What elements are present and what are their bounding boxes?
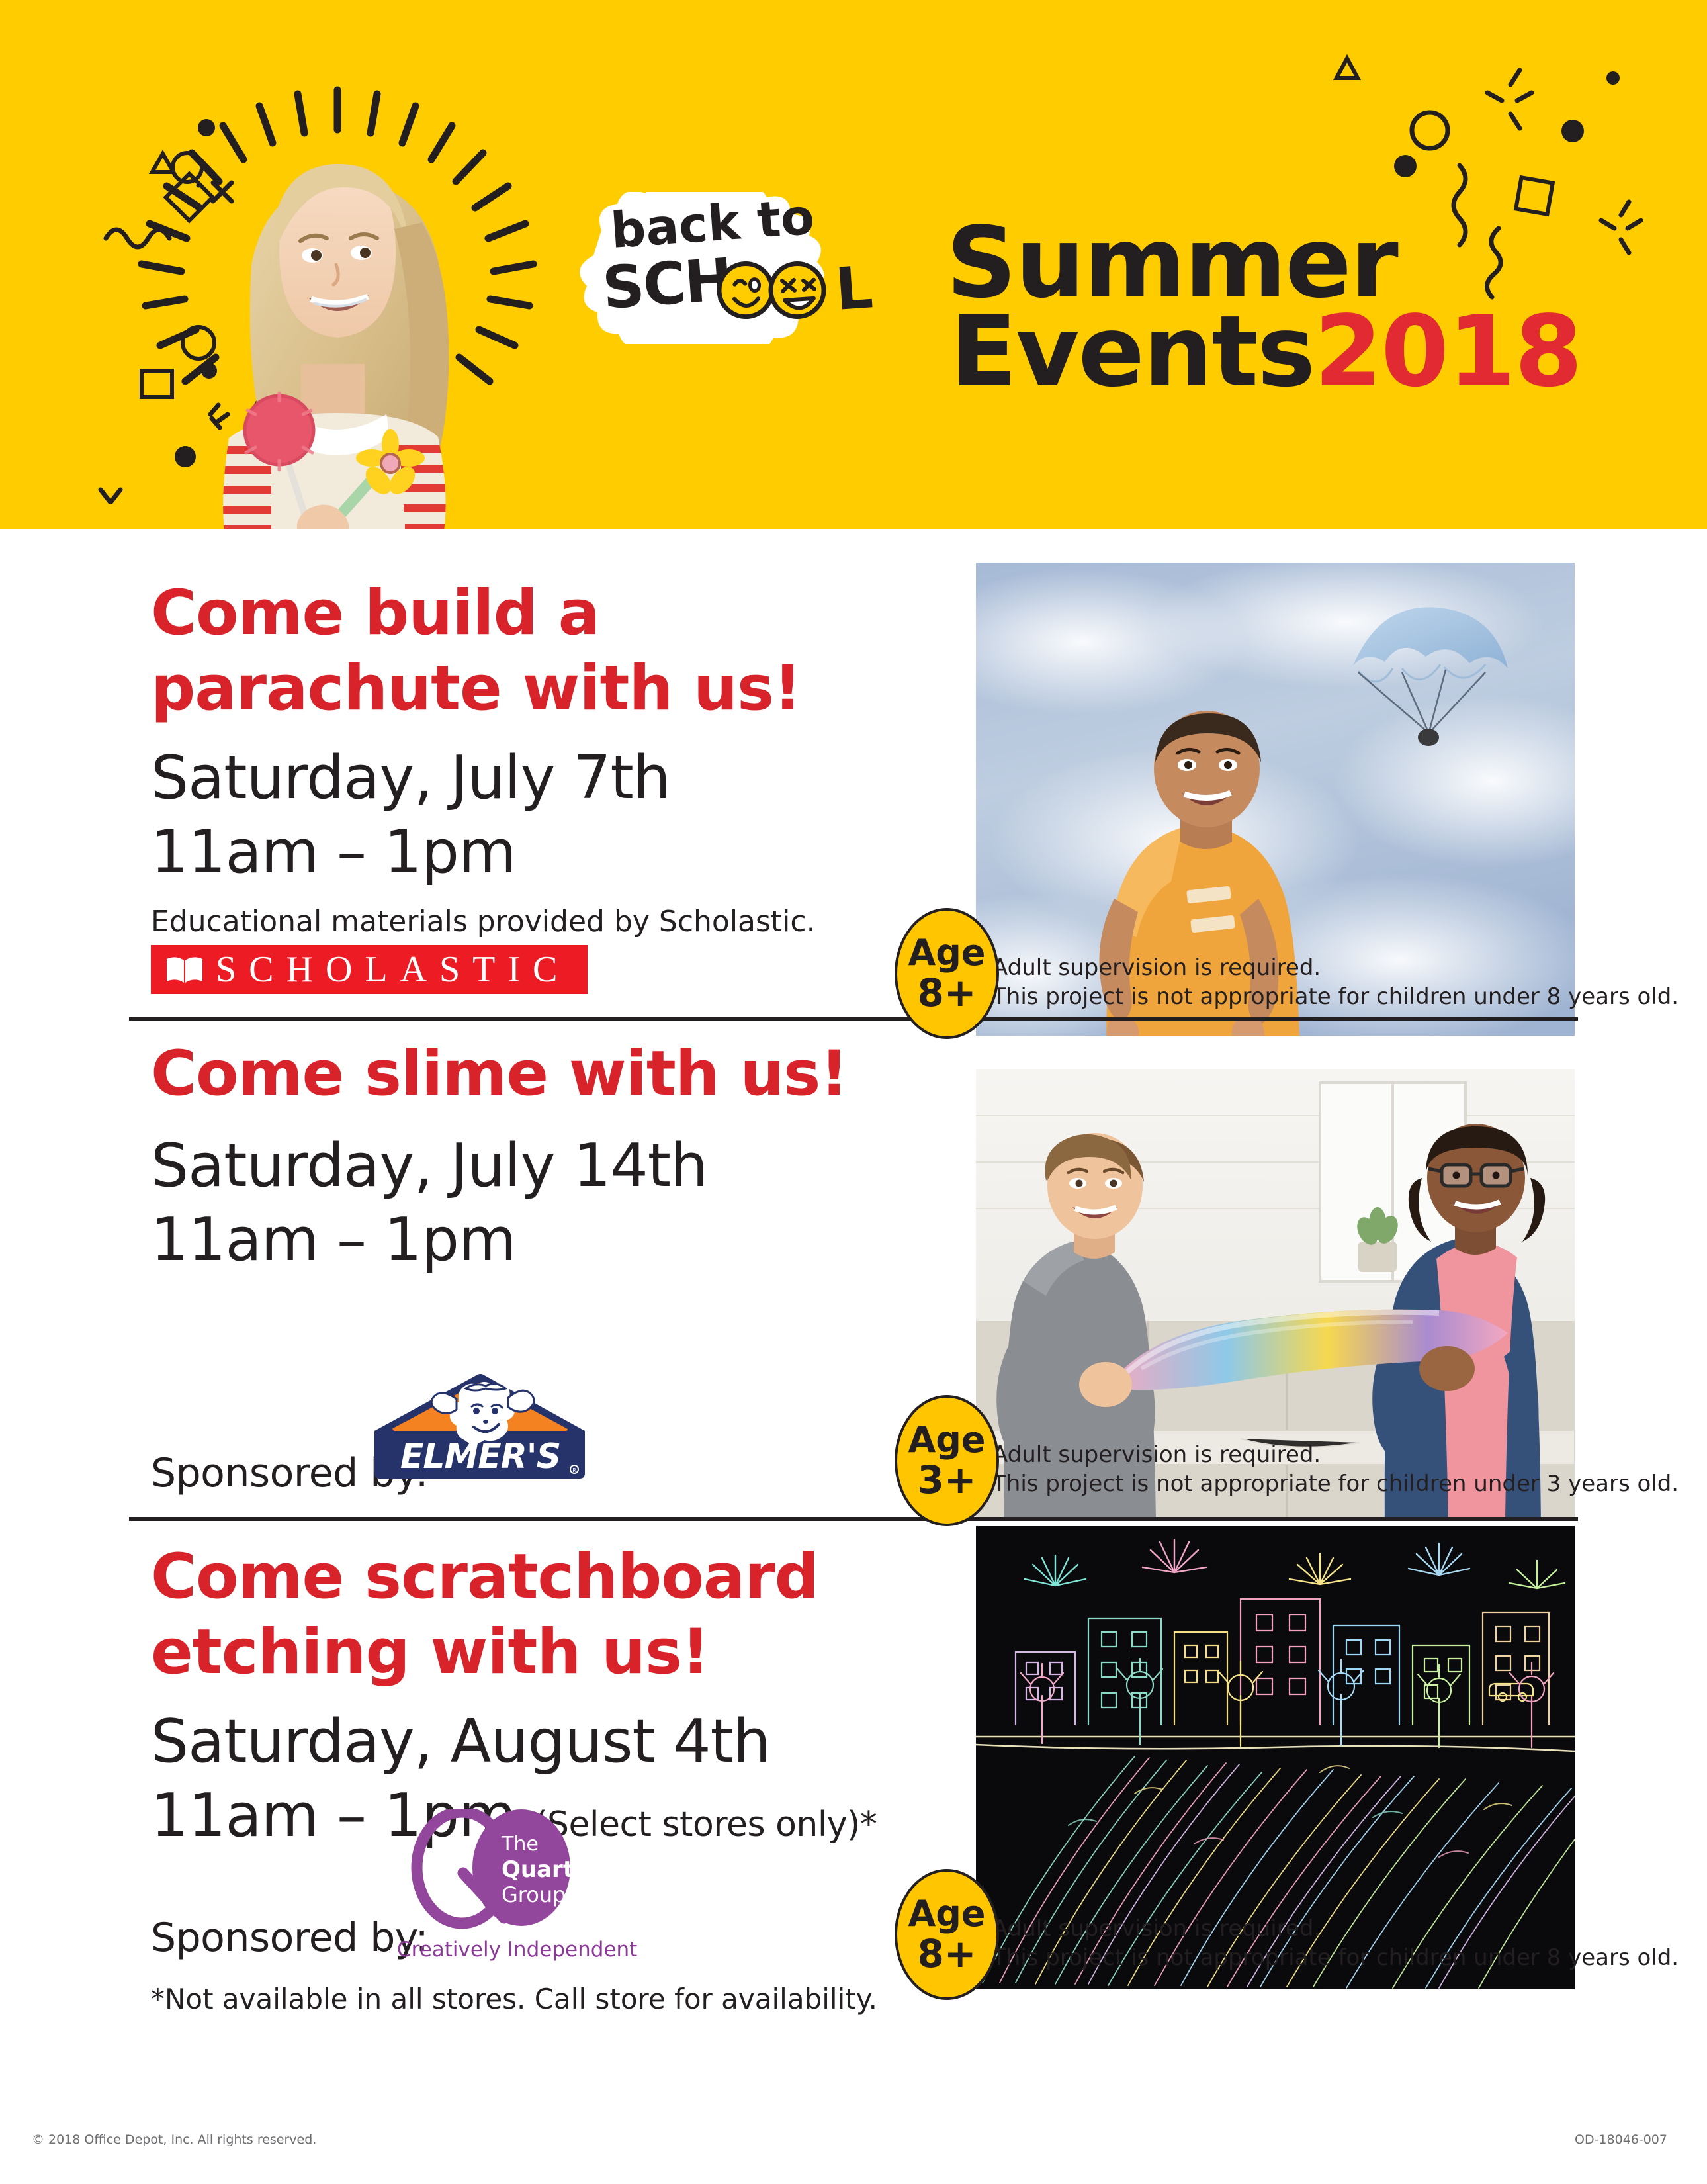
event-1-time: 11am – 1pm	[151, 815, 912, 889]
event-2-disclaimer-line1: Adult supervision is required.	[992, 1440, 1679, 1469]
svg-text:L: L	[833, 253, 873, 324]
event-1-disclaimer-line1: Adult supervision is required.	[992, 953, 1679, 982]
event-3-disclaimer: Adult supervision is required. This proj…	[992, 1914, 1679, 1972]
title-line-events: Events2018	[946, 307, 1687, 396]
event-3-disclaimer-line2: This project is not appropriate for chil…	[992, 1943, 1679, 1972]
age-value: 8+	[918, 1933, 977, 1974]
section-divider-1	[129, 1017, 1578, 1021]
elmers-wordmark: ELMER'S	[400, 1437, 560, 1477]
event-1-age-badge: Age 8+	[895, 908, 999, 1039]
event-2-title-line1: Come slime with us!	[151, 1036, 912, 1112]
event-1-title-line2: parachute with us!	[151, 651, 912, 727]
age-label: Age	[908, 1895, 985, 1933]
age-label: Age	[908, 1421, 985, 1459]
event-3-date: Saturday, August 4th	[151, 1705, 932, 1779]
event-3-title-line2: etching with us!	[151, 1615, 932, 1690]
title-events-word: Events	[950, 295, 1314, 408]
event-2-date: Saturday, July 14th	[151, 1129, 912, 1203]
quarto-group: Group	[502, 1882, 566, 1907]
event-2-disclaimer: Adult supervision is required. This proj…	[992, 1440, 1679, 1498]
quarto-tagline: Creatively Independent	[397, 1938, 637, 1962]
section-divider-2	[129, 1517, 1578, 1521]
age-value: 3+	[918, 1459, 977, 1500]
sunburst-rays-icon	[79, 66, 595, 529]
scholastic-logo: SCHOLASTIC	[151, 945, 588, 994]
event-2-time: 11am – 1pm	[151, 1203, 912, 1277]
quarto-group-logo: The Quarto Group	[390, 1809, 609, 1942]
poster-page: back to SCH L Summer Events2018	[0, 0, 1707, 2184]
copyright-text: © 2018 Office Depot, Inc. All rights res…	[32, 2132, 316, 2147]
event-3-availability-note: *Not available in all stores. Call store…	[151, 1983, 877, 2016]
title-line-summer: Summer	[946, 218, 1687, 307]
quarto-quarto: Quarto	[502, 1856, 589, 1883]
event-3-age-badge: Age 8+	[895, 1869, 999, 2000]
poster-title: Summer Events2018	[946, 218, 1687, 396]
svg-text:SCH: SCH	[600, 246, 734, 322]
svg-text:R: R	[572, 1467, 576, 1473]
event-3-disclaimer-line1: Adult supervision is required.	[992, 1914, 1679, 1943]
open-book-icon	[165, 955, 204, 984]
scholastic-wordmark: SCHOLASTIC	[216, 948, 570, 991]
age-value: 8+	[918, 972, 977, 1013]
poster-header: back to SCH L Summer Events2018	[0, 0, 1707, 529]
event-1-disclaimer-line2: This project is not appropriate for chil…	[992, 982, 1679, 1011]
event-3-title-line1: Come scratchboard	[151, 1539, 932, 1615]
document-code: OD-18046-007	[1575, 2132, 1667, 2147]
event-1-note: Educational materials provided by Schola…	[151, 904, 912, 940]
event-2-age-badge: Age 3+	[895, 1395, 999, 1526]
student-photo	[165, 99, 509, 529]
event-section-3: Come scratchboard etching with us! Satur…	[0, 1533, 1707, 2082]
quarto-the: The	[501, 1833, 539, 1856]
title-year: 2018	[1314, 295, 1581, 408]
elmers-logo: ELMER'S R	[371, 1367, 589, 1483]
event-section-2: Come slime with us! Saturday, July 14th …	[0, 1030, 1707, 1520]
back-to-school-badge-icon: back to SCH L	[572, 192, 956, 344]
event-section-1: Come build a parachute with us! Saturday…	[0, 569, 1707, 1019]
event-1-title-line1: Come build a	[151, 576, 912, 651]
event-2-disclaimer-line2: This project is not appropriate for chil…	[992, 1469, 1679, 1498]
event-1-disclaimer: Adult supervision is required. This proj…	[992, 953, 1679, 1011]
event-1-date: Saturday, July 7th	[151, 741, 912, 815]
age-label: Age	[908, 934, 985, 972]
event-3-sponsored-label: Sponsored by:	[151, 1917, 428, 1959]
